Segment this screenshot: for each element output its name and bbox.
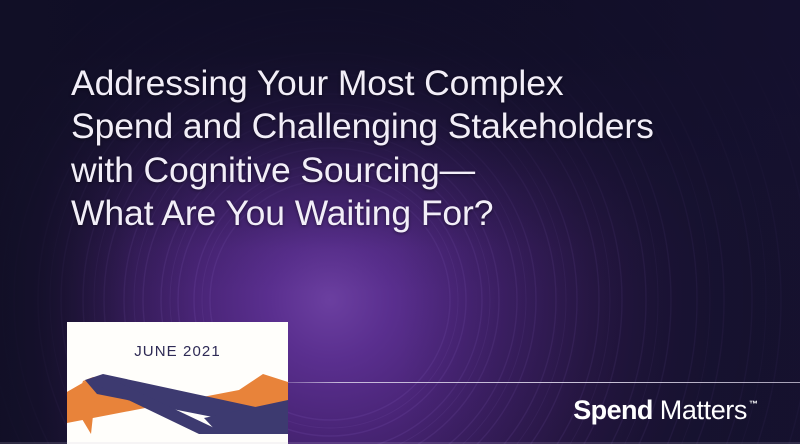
slide-headline: Addressing Your Most Complex Spend and C… xyxy=(71,62,751,236)
logo-text-matters: Matters xyxy=(660,395,747,426)
date-label: JUNE 2021 xyxy=(67,343,288,360)
spend-matters-logo: Spend Matters ™ xyxy=(573,395,758,426)
logo-text-spend: Spend xyxy=(573,395,653,426)
date-card: JUNE 2021 xyxy=(67,322,288,444)
presentation-slide: Addressing Your Most Complex Spend and C… xyxy=(0,0,800,444)
footer-divider xyxy=(288,382,800,383)
logo-trademark-symbol: ™ xyxy=(749,400,758,409)
card-ribbon-graphic xyxy=(67,322,288,444)
